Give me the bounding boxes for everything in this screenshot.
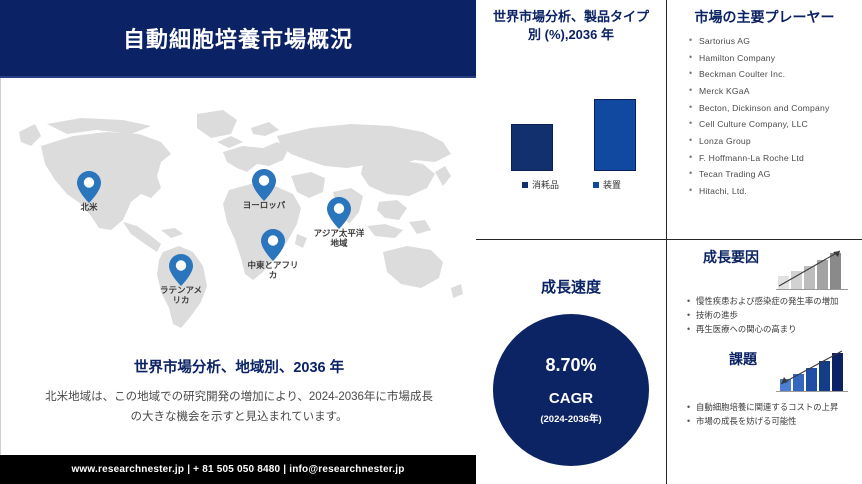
infographic-page: 自動細胞培養市場概況 bbox=[0, 0, 862, 484]
legend-swatch-icon bbox=[522, 182, 528, 188]
list-item: Hitachi, Ltd. bbox=[689, 187, 852, 204]
footer-bar: www.researchnester.jp | + 81 505 050 848… bbox=[0, 455, 476, 484]
growth-rate-panel: 成長速度 8.70% CAGR (2024-2036年) bbox=[476, 240, 667, 484]
cagr-percent: 8.70% bbox=[545, 355, 596, 376]
legend-swatch-icon bbox=[593, 182, 599, 188]
list-item: Cell Culture Company, LLC bbox=[689, 120, 852, 137]
map-marker-label: 中東とアフリカ bbox=[244, 261, 302, 281]
list-item: Sartorius AG bbox=[689, 37, 852, 54]
list-item: 再生医療への関心の高まり bbox=[687, 324, 854, 338]
list-item: Merck KGaA bbox=[689, 87, 852, 104]
map-pin-icon bbox=[326, 196, 352, 230]
growth-drivers-header: 成長要因 bbox=[667, 240, 862, 296]
list-item: Becton, Dickinson and Company bbox=[689, 104, 852, 121]
list-item: Beckman Coulter Inc. bbox=[689, 70, 852, 87]
product-panel-title: 世界市場分析、製品タイプ別 (%),2036 年 bbox=[476, 0, 666, 43]
map-caption: 世界市場分析、地域別、2036 年 北米地域は、この地域での研究開発の増加により… bbox=[1, 356, 477, 427]
page-title: 自動細胞培養市場概況 bbox=[123, 22, 353, 54]
product-type-panel: 世界市場分析、製品タイプ別 (%),2036 年 消耗品 装置 bbox=[476, 0, 667, 240]
challenges-header: 課題 bbox=[667, 344, 862, 396]
list-item: 技術の進歩 bbox=[687, 310, 854, 324]
footer-contact-text: www.researchnester.jp | + 81 505 050 848… bbox=[71, 464, 404, 475]
bar-chart bbox=[476, 86, 667, 171]
growth-drivers-title: 成長要因 bbox=[685, 248, 777, 267]
map-marker-asia-pacific[interactable]: アジア太平洋地域 bbox=[326, 196, 352, 230]
map-marker-europe[interactable]: ヨーロッパ bbox=[251, 168, 277, 202]
world-map: 北米 ヨーロッパ アジア太平洋地域 bbox=[11, 102, 467, 332]
list-item: 自動細胞培養に関連するコストの上昇 bbox=[687, 402, 854, 416]
growth-trend-chart bbox=[776, 246, 848, 292]
cagr-circle: 8.70% CAGR (2024-2036年) bbox=[493, 314, 649, 466]
list-item: Hamilton Company bbox=[689, 54, 852, 71]
caption-title: 世界市場分析、地域別、2036 年 bbox=[1, 356, 477, 377]
list-item: F. Hoffmann-La Roche Ltd bbox=[689, 154, 852, 171]
map-marker-label: アジア太平洋地域 bbox=[313, 229, 365, 249]
map-pin-icon bbox=[260, 228, 286, 262]
growth-drivers-list: 慢性疾患および感染症の発生率の増加 技術の進歩 再生医療への関心の高まり bbox=[667, 296, 862, 338]
list-item: Lonza Group bbox=[689, 137, 852, 154]
legend-item-equipment: 装置 bbox=[593, 178, 621, 191]
cagr-panel-title: 成長速度 bbox=[476, 240, 666, 298]
map-marker-middle-east-africa[interactable]: 中東とアフリカ bbox=[260, 228, 286, 262]
map-pin-icon bbox=[168, 253, 194, 287]
legend-label: 消耗品 bbox=[532, 178, 559, 191]
left-column: 自動細胞培養市場概況 bbox=[0, 0, 476, 484]
world-map-graphic bbox=[11, 102, 467, 332]
bar-chart-legend: 消耗品 装置 bbox=[476, 178, 667, 191]
challenges-list: 自動細胞培養に関連するコストの上昇 市場の成長を妨げる可能性 bbox=[667, 402, 862, 430]
ascending-bar-chart-icon bbox=[776, 246, 848, 292]
bar-consumables bbox=[511, 124, 553, 171]
map-marker-north-america[interactable]: 北米 bbox=[76, 170, 102, 204]
bar-equipment bbox=[594, 99, 636, 171]
players-panel-title: 市場の主要プレーヤー bbox=[667, 0, 862, 27]
map-marker-latin-america[interactable]: ラテンアメリカ bbox=[168, 253, 194, 287]
header-bar: 自動細胞培養市場概況 bbox=[0, 0, 476, 76]
map-marker-label: 北米 bbox=[80, 203, 97, 213]
list-item: 市場の成長を妨げる可能性 bbox=[687, 416, 854, 430]
list-item: 慢性疾患および感染症の発生率の増加 bbox=[687, 296, 854, 310]
caption-body: 北米地域は、この地域での研究開発の増加により、2024-2036年に市場成長の大… bbox=[1, 387, 477, 427]
map-marker-label: ヨーロッパ bbox=[243, 201, 286, 211]
legend-item-consumables: 消耗品 bbox=[522, 178, 559, 191]
ascending-bar-chart-icon bbox=[776, 348, 848, 394]
map-marker-label: ラテンアメリカ bbox=[157, 286, 205, 306]
map-section: 北米 ヨーロッパ アジア太平洋地域 bbox=[0, 78, 476, 455]
legend-label: 装置 bbox=[603, 178, 621, 191]
challenges-title: 課題 bbox=[703, 350, 783, 369]
list-item: Tecan Trading AG bbox=[689, 170, 852, 187]
drivers-challenges-panel: 成長要因 慢性疾患および感染症の発生率の増加 技術の進歩 再生医療への関心の高ま… bbox=[667, 240, 862, 484]
map-pin-icon bbox=[76, 170, 102, 204]
challenges-trend-chart bbox=[776, 348, 848, 394]
key-players-list: Sartorius AG Hamilton Company Beckman Co… bbox=[667, 37, 862, 204]
key-players-panel: 市場の主要プレーヤー Sartorius AG Hamilton Company… bbox=[667, 0, 862, 240]
map-pin-icon bbox=[251, 168, 277, 202]
cagr-range: (2024-2036年) bbox=[540, 411, 601, 425]
cagr-label: CAGR bbox=[549, 390, 593, 407]
